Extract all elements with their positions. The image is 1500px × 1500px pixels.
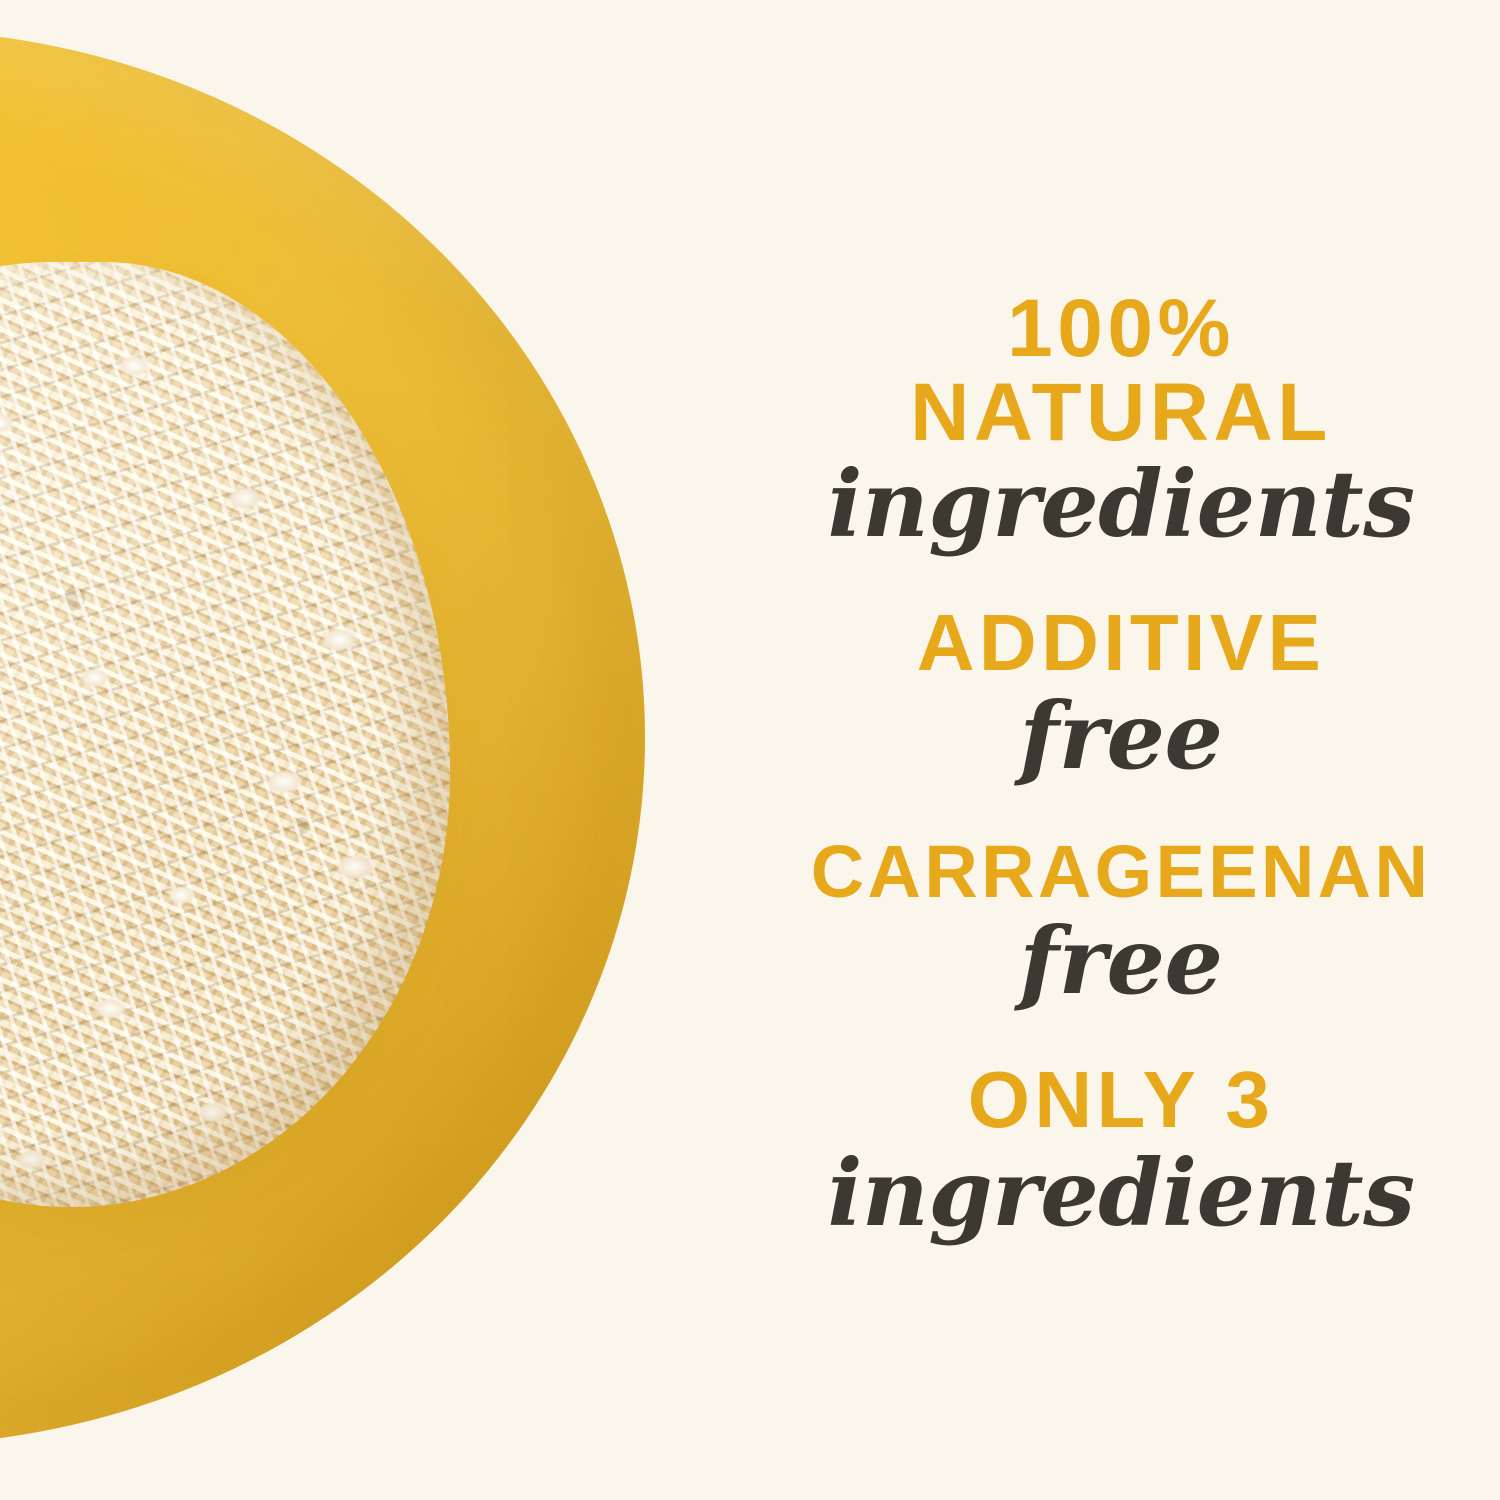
claim-headline: CARRAGEENAN — [742, 834, 1500, 909]
claim-headline: 100% NATURAL — [742, 287, 1500, 454]
claim-headline: ADDITIVE — [742, 602, 1500, 684]
claim-script: ingredients — [742, 1147, 1500, 1239]
claim-additive-free: ADDITIVE free — [742, 602, 1500, 782]
claim-only-3-ingredients: ONLY 3 ingredients — [742, 1059, 1500, 1239]
claim-script: free — [742, 690, 1500, 782]
claim-carrageenan-free: CARRAGEENAN free — [742, 834, 1500, 1007]
claim-script: ingredients — [742, 458, 1500, 550]
claims-list: 100% NATURAL ingredients ADDITIVE free C… — [742, 0, 1500, 1500]
claim-natural-ingredients: 100% NATURAL ingredients — [742, 287, 1500, 550]
product-claims-banner: 100% NATURAL ingredients ADDITIVE free C… — [0, 0, 1500, 1500]
claim-headline: ONLY 3 — [742, 1059, 1500, 1141]
claim-script: free — [742, 915, 1500, 1007]
shredded-chicken-and-rice — [0, 262, 450, 1207]
